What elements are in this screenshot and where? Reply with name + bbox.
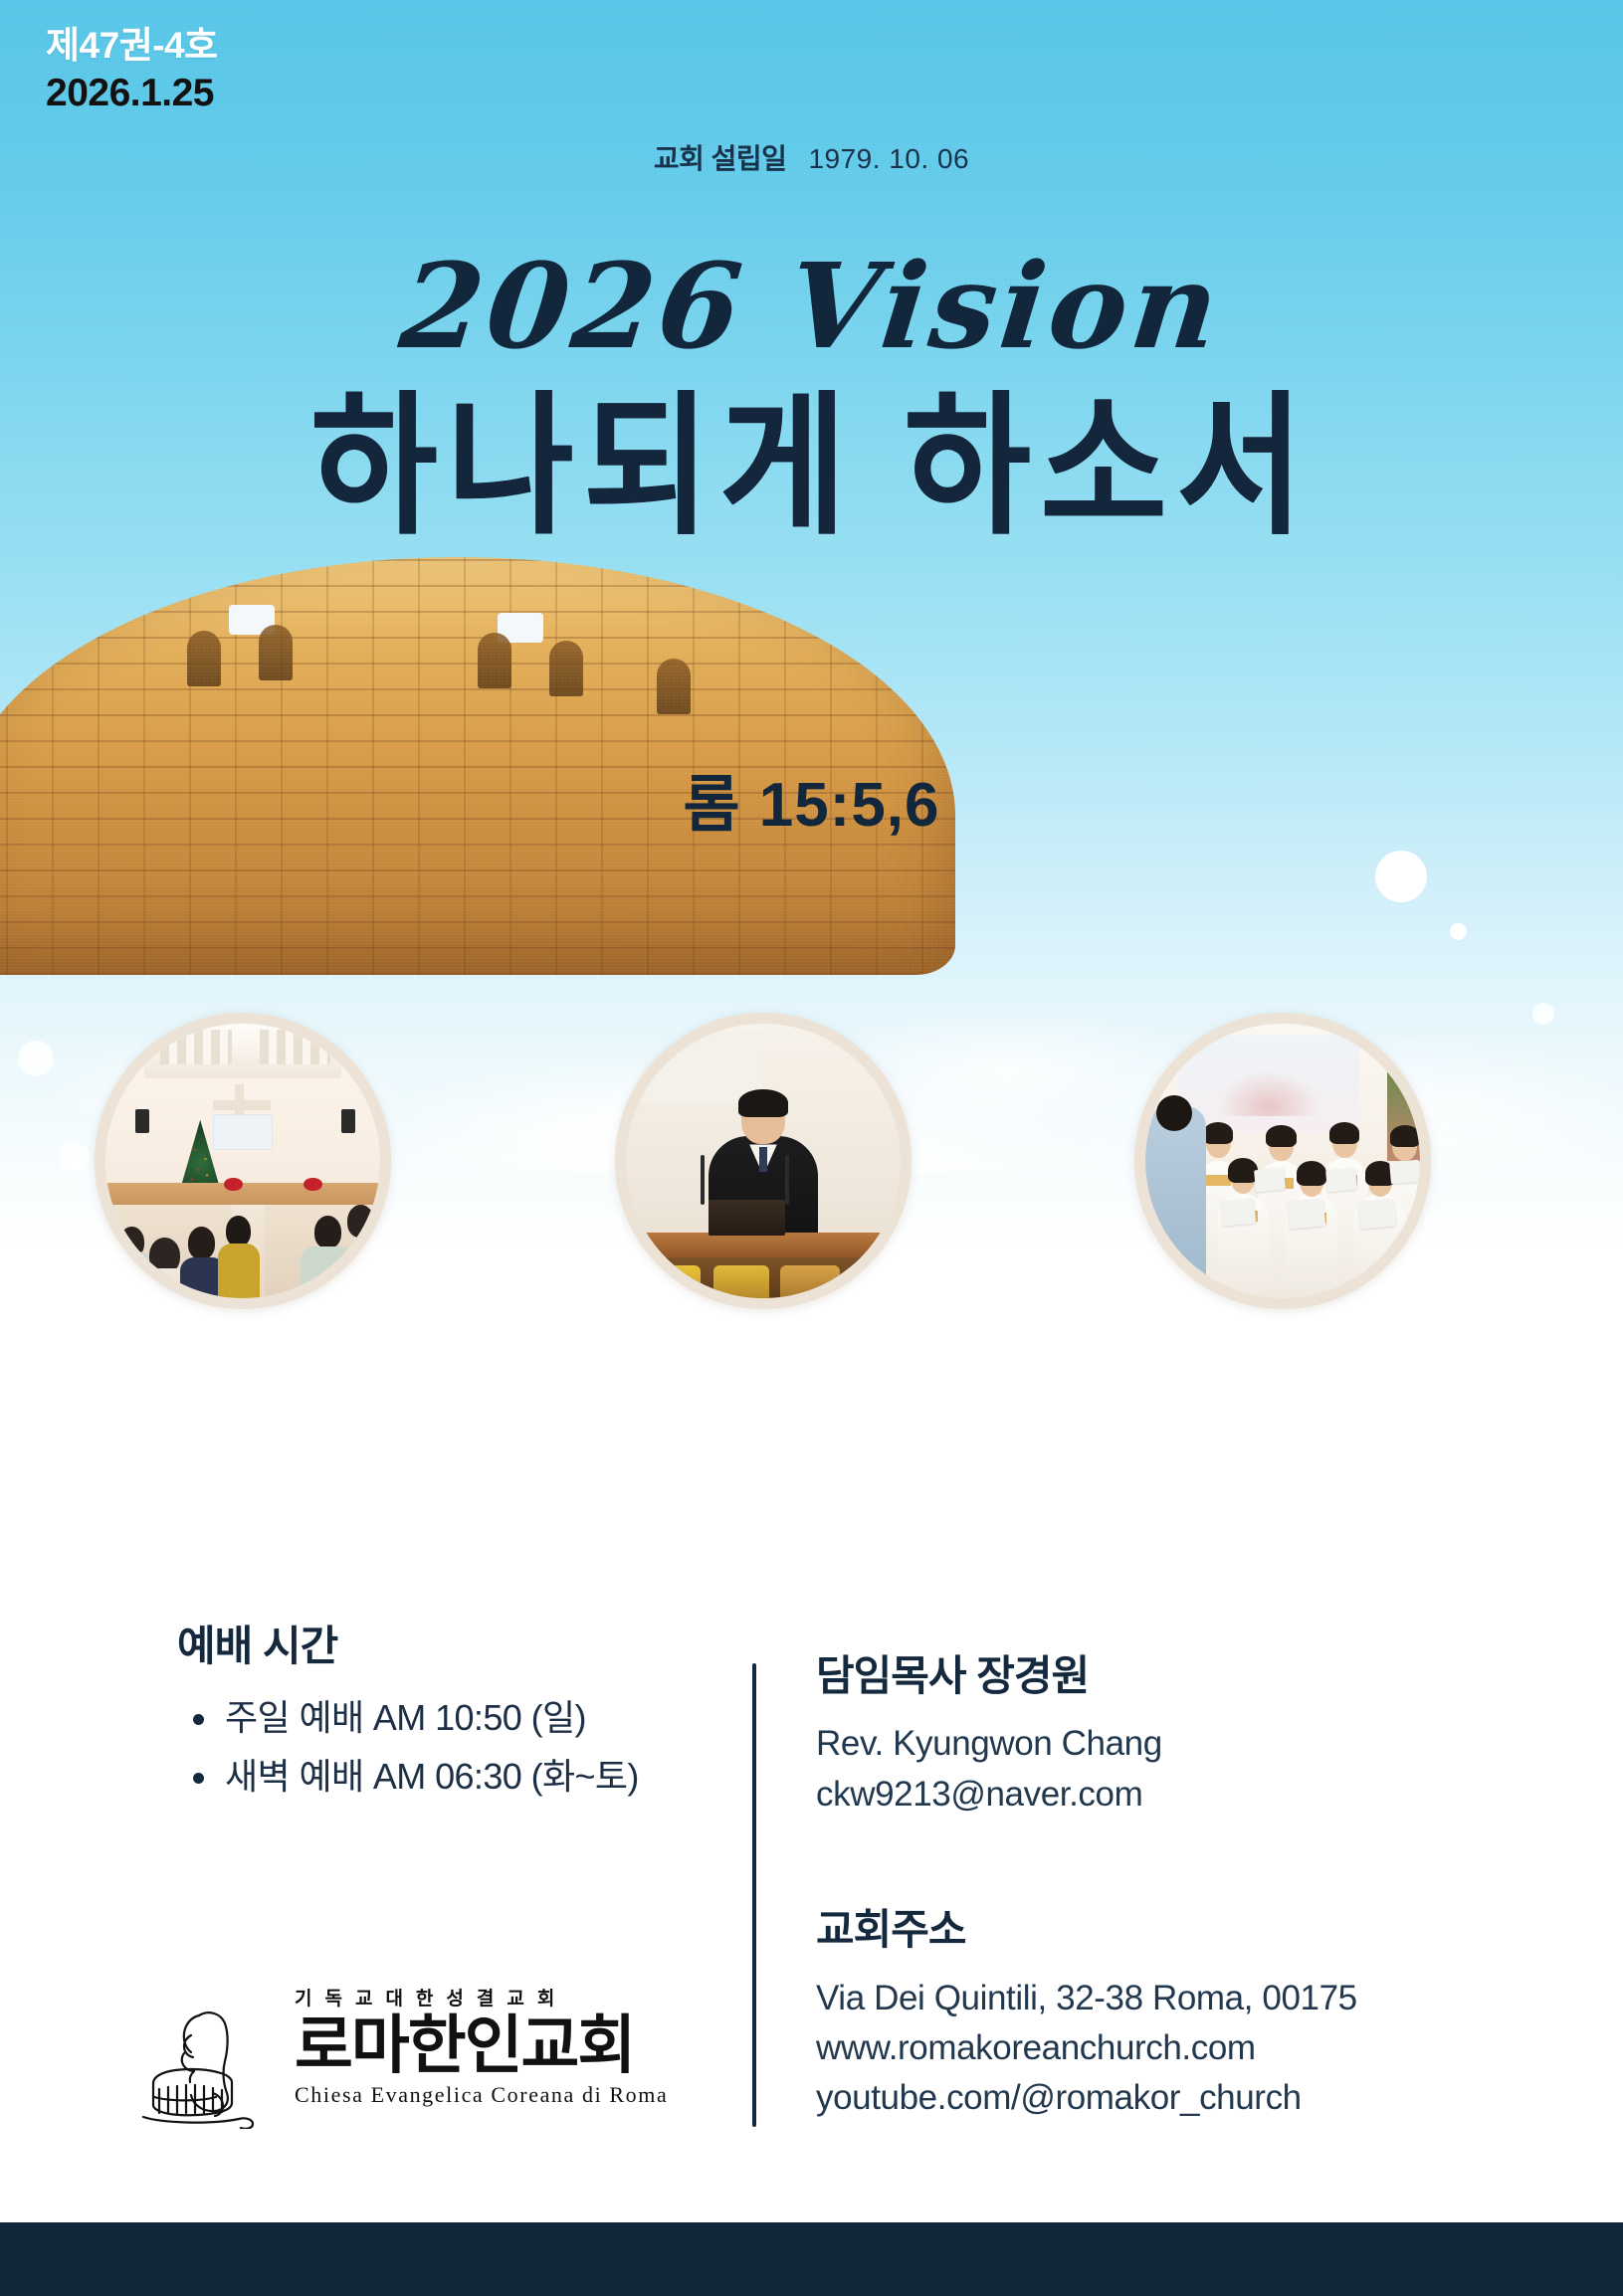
- issue-volume: 제47권-4호: [46, 22, 218, 69]
- section-spacer: [816, 1819, 1513, 1905]
- church-youtube-link[interactable]: youtube.com/@romakor_church: [816, 2073, 1513, 2123]
- logo-denomination: 기독교대한성결교회: [295, 1990, 653, 2010]
- logo-church-name-korean: 로마한인교회: [295, 2012, 653, 2079]
- logo-wordmark: 기독교대한성결교회 로마한인교회 Chiesa Evangelica Corea…: [295, 1990, 653, 2108]
- founding-date-value: 1979. 10. 06: [808, 143, 969, 174]
- photo-content: [1145, 1024, 1420, 1298]
- bokeh-dot: [291, 907, 334, 951]
- photo-gallery: [0, 1005, 1623, 1343]
- worship-service-list: 주일 예배 AM 10:50 (일) 새벽 예배 AM 06:30 (화~토): [177, 1689, 734, 1806]
- pastor-heading: 담임목사 장경원: [816, 1651, 1513, 1701]
- colosseum-arch: [549, 641, 583, 696]
- worship-times-column: 예배 시간 주일 예배 AM 10:50 (일) 새벽 예배 AM 06:30 …: [177, 1622, 734, 1806]
- issue-date: 2026.1.25: [46, 69, 218, 118]
- contact-column: 담임목사 장경원 Rev. Kyungwon Chang ckw9213@nav…: [816, 1651, 1513, 2124]
- colosseum-notch: [498, 613, 543, 643]
- colosseum-notch: [229, 605, 275, 635]
- church-website-link[interactable]: www.romakoreanchurch.com: [816, 2023, 1513, 2073]
- address-details: Via Dei Quintili, 32-38 Roma, 00175 www.…: [816, 1974, 1513, 2124]
- choir-singing-photo: [1134, 1013, 1431, 1309]
- colosseum-arch: [187, 631, 221, 686]
- service-time: 새벽 예배 AM 06:30 (화~토): [225, 1756, 639, 1797]
- church-logo: 기독교대한성결교회 로마한인교회 Chiesa Evangelica Corea…: [137, 1990, 655, 2139]
- bokeh-dot: [774, 925, 800, 951]
- founding-date-label: 교회 설립일: [654, 143, 787, 174]
- service-time: 주일 예배 AM 10:50 (일): [225, 1697, 586, 1738]
- vision-scripture-reference: 롬 15:5,6: [0, 754, 1623, 844]
- kneeling-person-colosseum-icon: [137, 1998, 283, 2129]
- pastor-email[interactable]: ckw9213@naver.com: [816, 1770, 1513, 1819]
- church-founding-date: 교회 설립일1979. 10. 06: [0, 137, 1623, 177]
- church-street-address: Via Dei Quintili, 32-38 Roma, 00175: [816, 1974, 1513, 2023]
- photo-content: [105, 1024, 380, 1298]
- pastor-name-english: Rev. Kyungwon Chang: [816, 1719, 1513, 1769]
- bullet-icon: [193, 1714, 204, 1725]
- congregation-worship-photo: [95, 1013, 391, 1309]
- church-bulletin-cover: 제47권-4호 2026.1.25 교회 설립일1979. 10. 06 202…: [0, 0, 1623, 2296]
- vision-slogan: 하나되게 하소서: [0, 341, 1623, 564]
- colosseum-arch: [478, 633, 511, 688]
- photo-content: [626, 1024, 901, 1298]
- logo-church-name-italian: Chiesa Evangelica Coreana di Roma: [295, 2082, 653, 2108]
- pastor-preaching-photo: [615, 1013, 912, 1309]
- colosseum-arch: [259, 625, 293, 680]
- bokeh-dot: [1375, 851, 1427, 902]
- pastor-details: Rev. Kyungwon Chang ckw9213@naver.com: [816, 1719, 1513, 1819]
- list-item: 주일 예배 AM 10:50 (일): [177, 1689, 734, 1747]
- address-heading: 교회주소: [816, 1905, 1513, 1955]
- bokeh-dot: [1450, 923, 1467, 940]
- bullet-icon: [193, 1773, 204, 1784]
- list-item: 새벽 예배 AM 06:30 (화~토): [177, 1748, 734, 1806]
- footer-bar: [0, 2222, 1623, 2296]
- worship-times-heading: 예배 시간: [177, 1622, 734, 1671]
- colosseum-arch: [657, 659, 691, 714]
- column-divider: [752, 1663, 756, 2127]
- issue-info: 제47권-4호 2026.1.25: [46, 22, 218, 118]
